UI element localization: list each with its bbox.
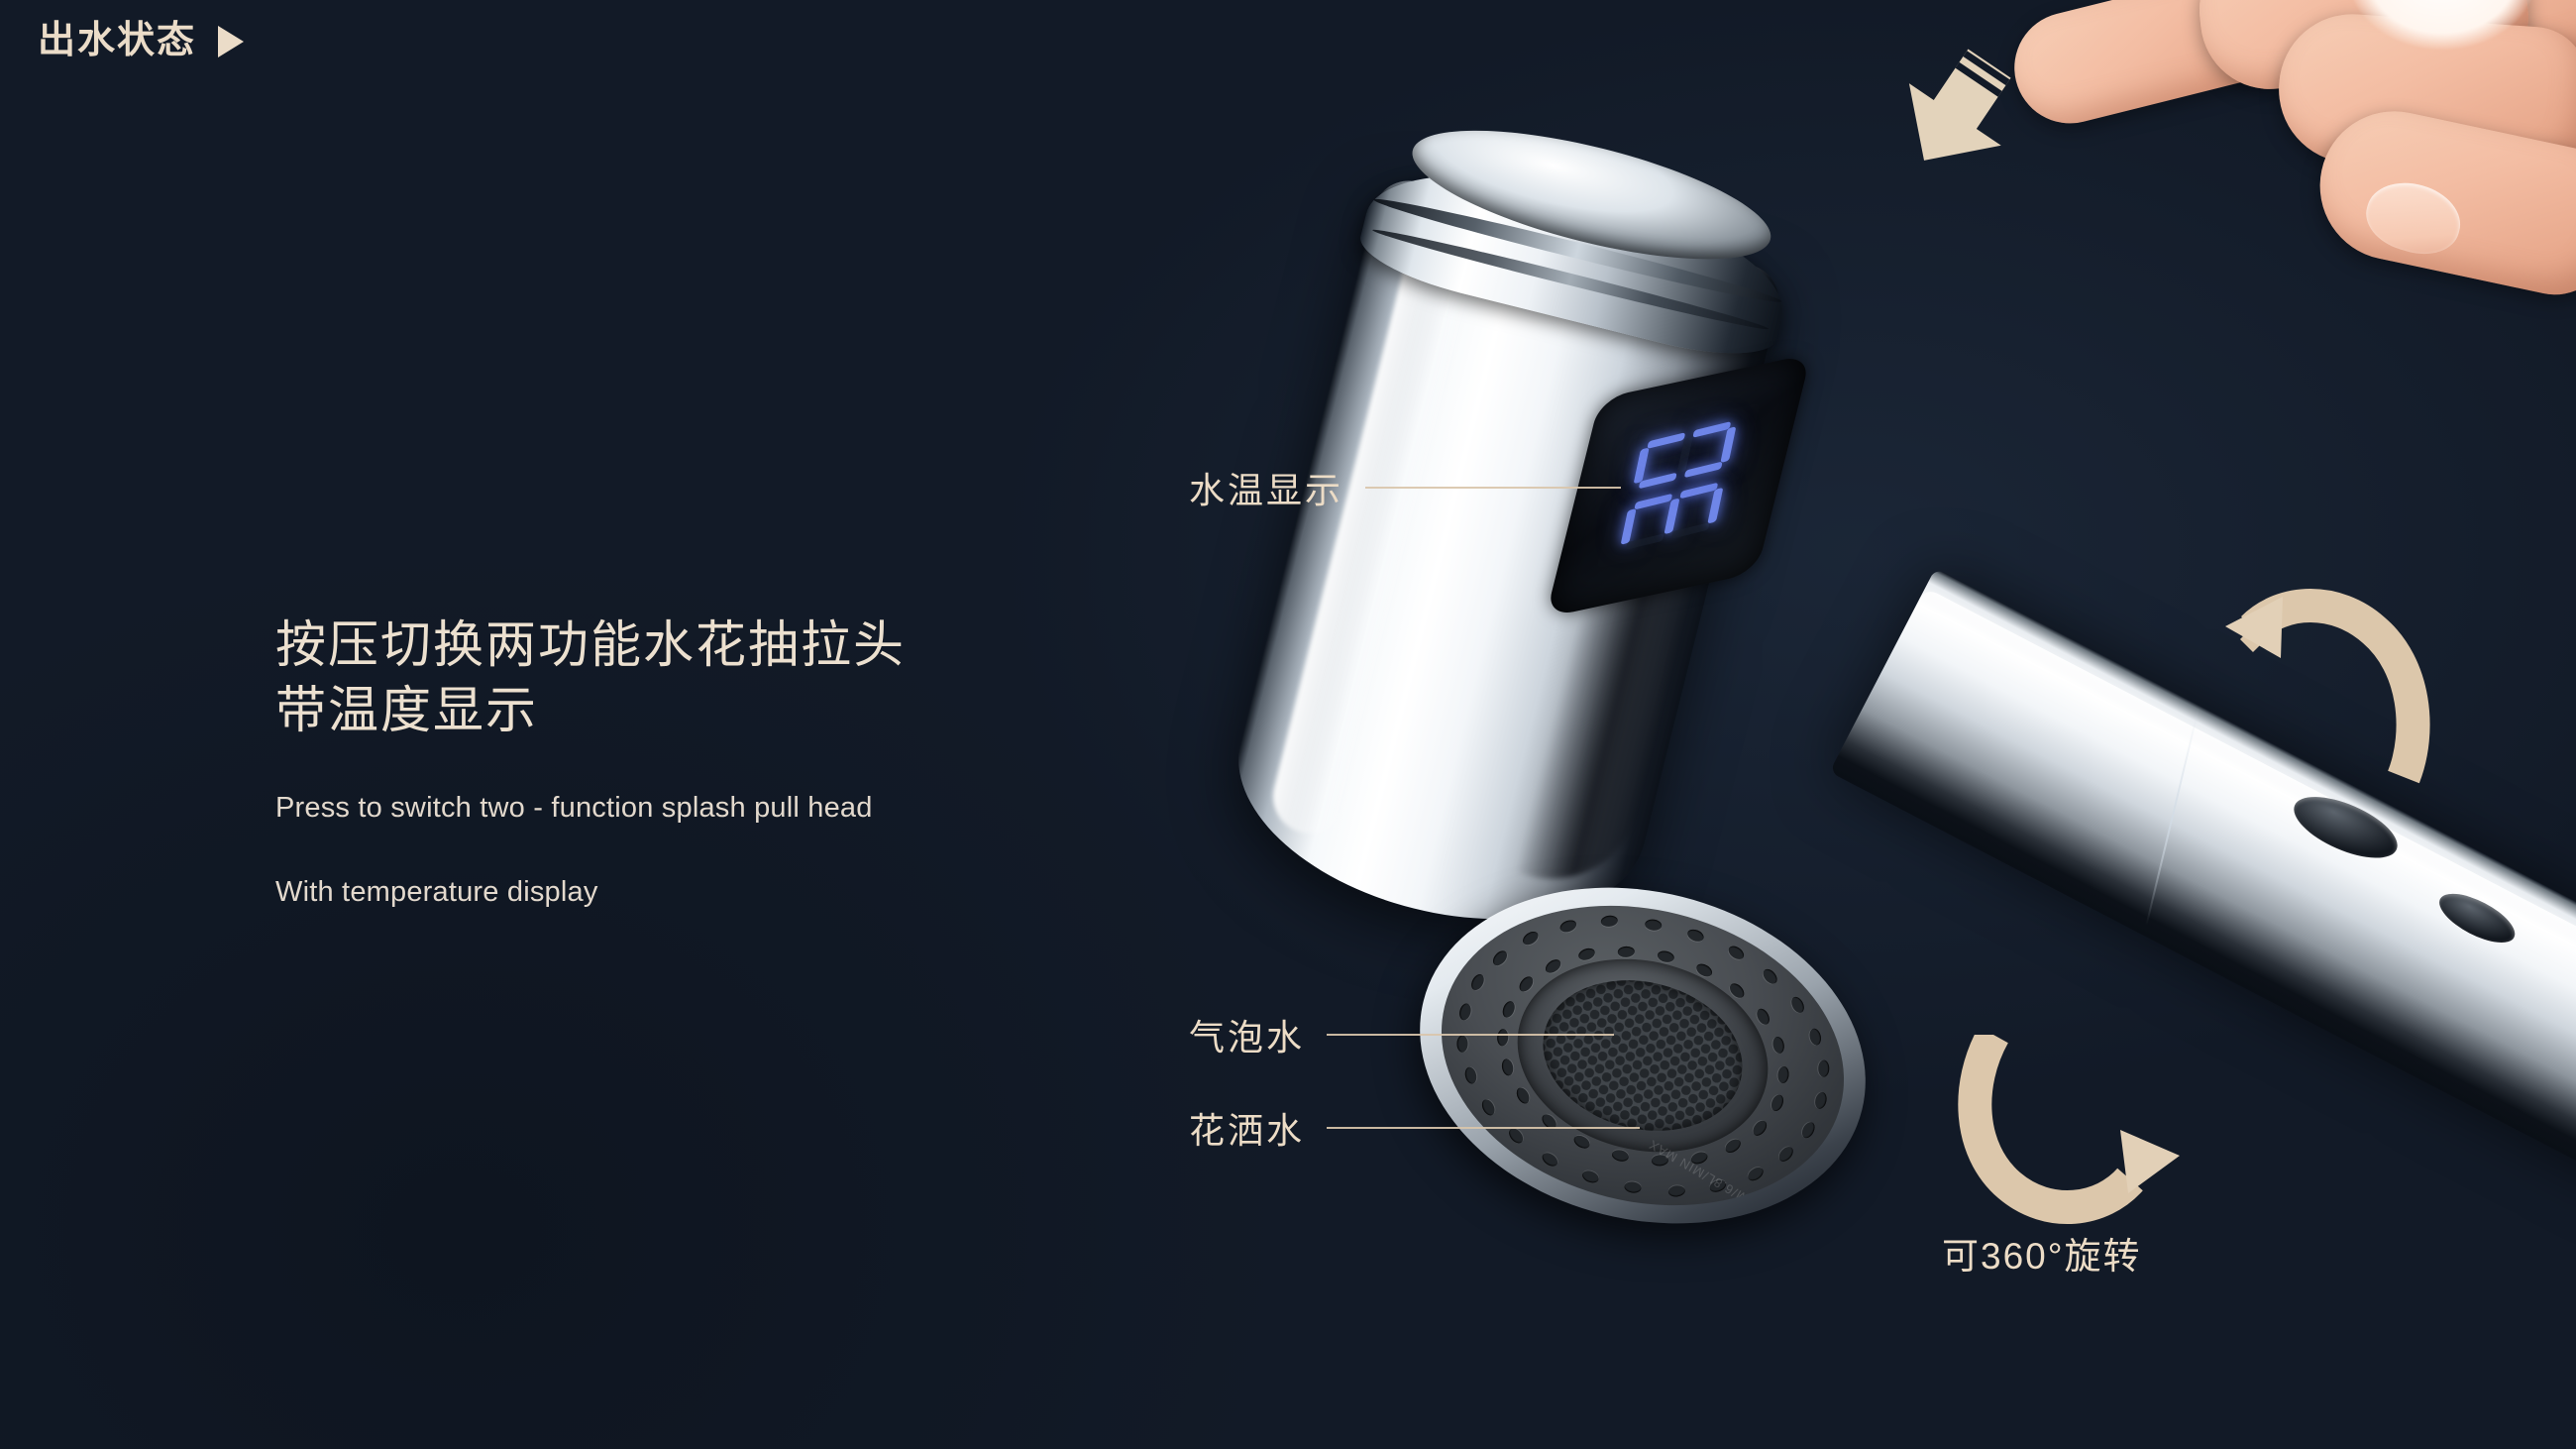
callout-leader-line	[1365, 487, 1621, 489]
callout-label-temperature: 水温显示	[1189, 462, 1343, 513]
aerator-hole	[1770, 1093, 1785, 1113]
aerator-hole	[1517, 974, 1536, 994]
headline-cn-line1: 按压切换两功能水花抽拉头	[275, 613, 906, 678]
aerator-hole	[1788, 995, 1806, 1015]
aerator-hole	[1818, 1060, 1829, 1077]
rotate-clockwise-icon	[1954, 1035, 2188, 1239]
play-triangle-icon	[218, 26, 244, 57]
description-block: 按压切换两功能水花抽拉头 带温度显示 Press to switch two -…	[275, 613, 906, 914]
aerator-hole	[1500, 1058, 1514, 1076]
subhead-en-line1: Press to switch two - function splash pu…	[275, 788, 906, 829]
aerator-hole	[1624, 1181, 1642, 1194]
aerator-hole	[1751, 1118, 1770, 1138]
hand-pressing-icon	[2051, 0, 2576, 307]
callout-shower-water: 花洒水	[1189, 1102, 1640, 1154]
led-digit-group	[1619, 418, 1739, 554]
aerator-hole	[1543, 956, 1562, 975]
aerator-hole	[1558, 918, 1578, 934]
rotation-label: 可360°旋转	[1942, 1226, 2142, 1280]
aerator-hole	[1777, 1066, 1789, 1084]
aerator-hole	[1469, 972, 1487, 992]
aerator-hole	[1580, 1169, 1600, 1184]
headline-cn-line2: 带温度显示	[275, 678, 906, 743]
aerator-hole	[1746, 1165, 1766, 1183]
aerator-hole	[1577, 947, 1597, 962]
rotate-counterclockwise-icon	[2217, 583, 2445, 787]
aerator-hole	[1600, 915, 1618, 928]
callout-temperature-display: 水温显示	[1189, 462, 1621, 513]
aerator-hole	[1644, 918, 1662, 931]
aerator-hole	[1617, 946, 1635, 957]
faucet-spout-arm	[1829, 568, 2576, 1312]
aerator-hole	[1761, 966, 1779, 986]
aerator-hole	[1521, 930, 1541, 948]
callout-label-shower: 花洒水	[1189, 1102, 1305, 1154]
aerator-hole	[1726, 944, 1746, 962]
aerator-hole	[1686, 927, 1706, 943]
aerator-hole	[1490, 947, 1510, 967]
page-title: 出水状态	[38, 22, 196, 59]
press-down-arrow-icon	[1887, 48, 2026, 176]
aerator-hole	[1808, 1027, 1823, 1046]
aerator-hole	[1463, 1066, 1478, 1085]
aerator-hole	[1723, 1137, 1743, 1156]
aerator-hole	[1771, 1036, 1785, 1055]
slide-header: 出水状态	[38, 22, 244, 59]
aerator-hole	[1755, 1006, 1772, 1026]
aerator-hole	[1800, 1120, 1818, 1140]
callout-leader-line	[1327, 1127, 1640, 1129]
callout-bubble-water: 气泡水	[1189, 1009, 1614, 1060]
aerator-hole	[1667, 1184, 1685, 1197]
callout-label-bubble: 气泡水	[1189, 1009, 1305, 1060]
subhead-en-line2: With temperature display	[275, 872, 906, 913]
slide-canvas: 1.8GPM/6.8L/MIN MAX	[0, 0, 2576, 1449]
aerator-hole	[1776, 1145, 1796, 1165]
aerator-hole	[1814, 1091, 1829, 1110]
callout-leader-line	[1327, 1034, 1614, 1036]
